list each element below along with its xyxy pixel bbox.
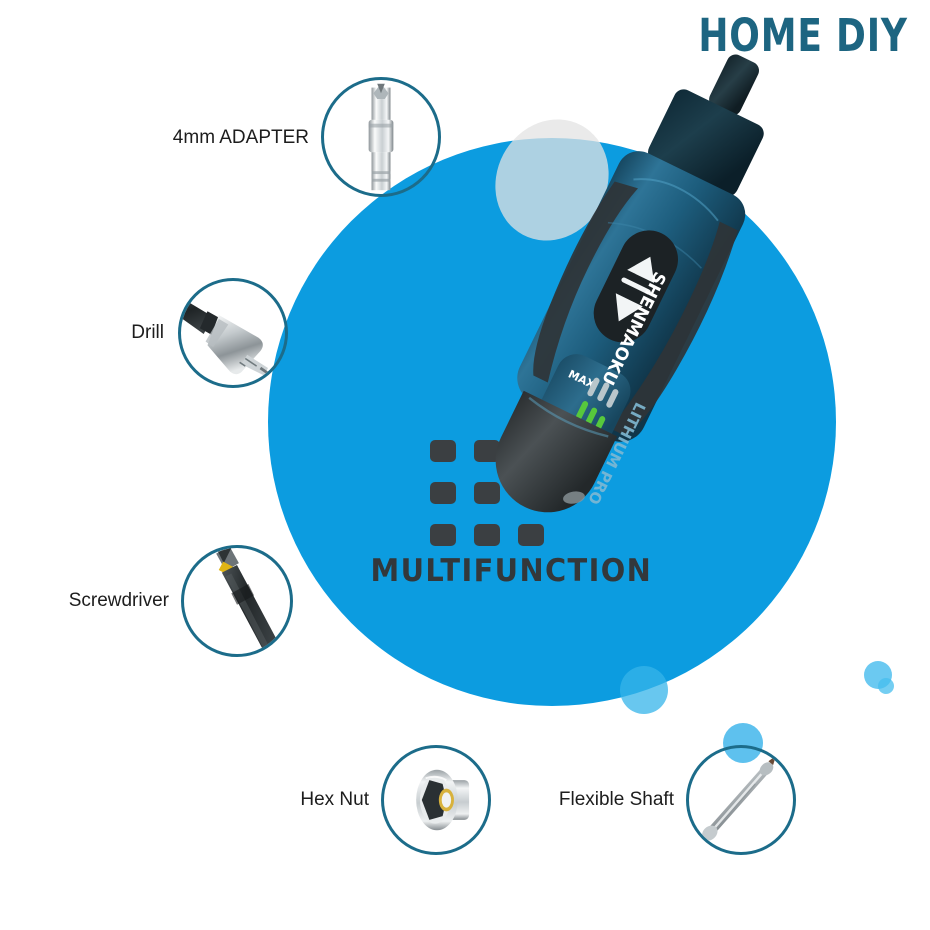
grid-dot: [474, 482, 500, 504]
feature-ring: [686, 745, 796, 855]
feature-ring: [181, 545, 293, 657]
drill-chuck-icon: [181, 281, 285, 385]
feature-ring: [321, 77, 441, 197]
glow-dot: [620, 666, 668, 714]
feature-label: 4mm ADAPTER: [169, 128, 309, 147]
page-title: HOME DIY: [699, 12, 908, 59]
multifunction-grid-icon: [430, 440, 544, 550]
flexible-shaft-icon: [689, 748, 793, 852]
feature-label: Flexible Shaft: [532, 790, 674, 809]
feature-ring: [178, 278, 288, 388]
hex-socket-icon: [384, 748, 488, 852]
bit-adapter-icon: [324, 80, 438, 194]
feature-ring: [381, 745, 491, 855]
grid-dot: [430, 440, 456, 462]
glow-dot: [878, 678, 894, 694]
grid-dot: [430, 524, 456, 546]
grid-dot: [474, 524, 500, 546]
feature-label: Screwdriver: [55, 591, 169, 610]
infographic-canvas: HOME DIY MULTIFUNCTION: [0, 0, 930, 930]
screwdriver-bit-icon: [184, 548, 290, 654]
grid-dot: [518, 440, 544, 462]
grid-dot: [518, 524, 544, 546]
feature-label: Hex Nut: [273, 790, 369, 809]
grid-dot: [430, 482, 456, 504]
grid-dot: [474, 440, 500, 462]
hero-blue-disc: [268, 138, 836, 706]
feature-label: Drill: [86, 323, 164, 342]
multifunction-caption: MULTIFUNCTION: [371, 553, 650, 589]
grid-dot: [518, 482, 544, 504]
